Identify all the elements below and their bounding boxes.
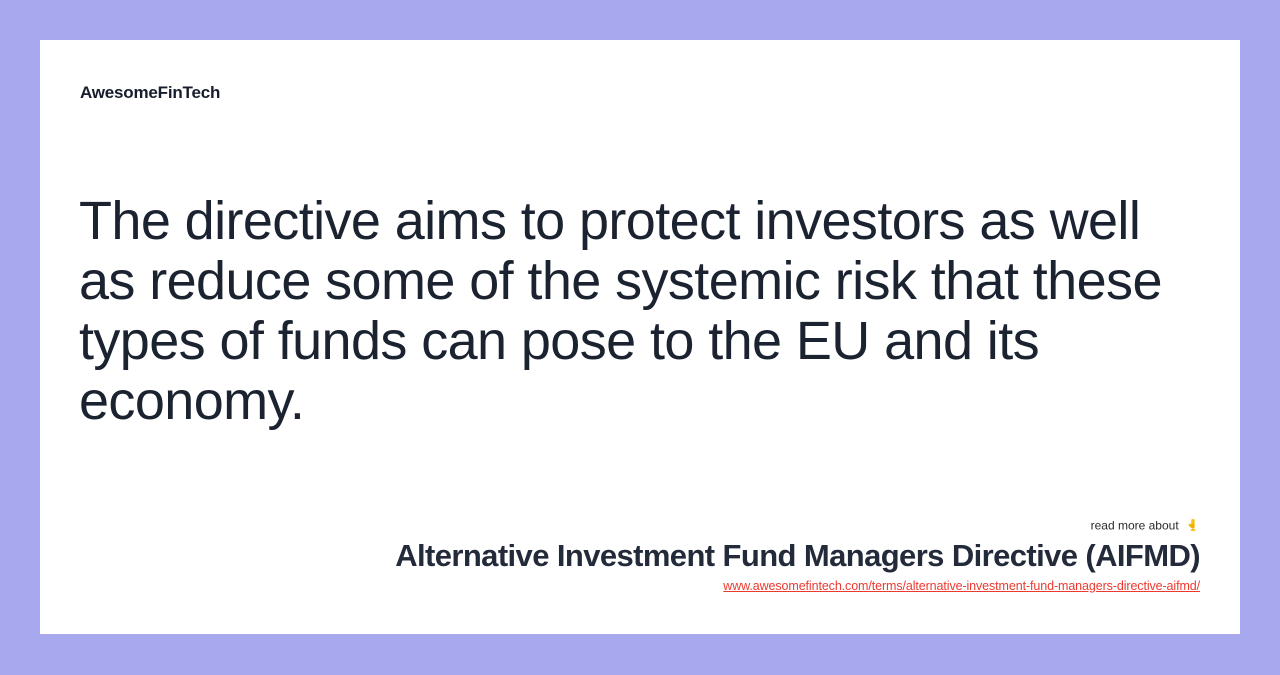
quote-text: The directive aims to protect investors … [79, 191, 1204, 431]
brand-logo: AwesomeFinTech [80, 83, 220, 103]
point-down-icon [1186, 518, 1200, 536]
footer-block: read more about Alternative Investment F… [80, 517, 1200, 595]
read-more-row: read more about [80, 517, 1200, 535]
entry-url-link[interactable]: www.awesomefintech.com/terms/alternative… [723, 578, 1200, 594]
quote-card: AwesomeFinTech The directive aims to pro… [40, 40, 1240, 634]
read-more-label: read more about [1091, 519, 1179, 533]
entry-title: Alternative Investment Fund Managers Dir… [80, 537, 1200, 575]
